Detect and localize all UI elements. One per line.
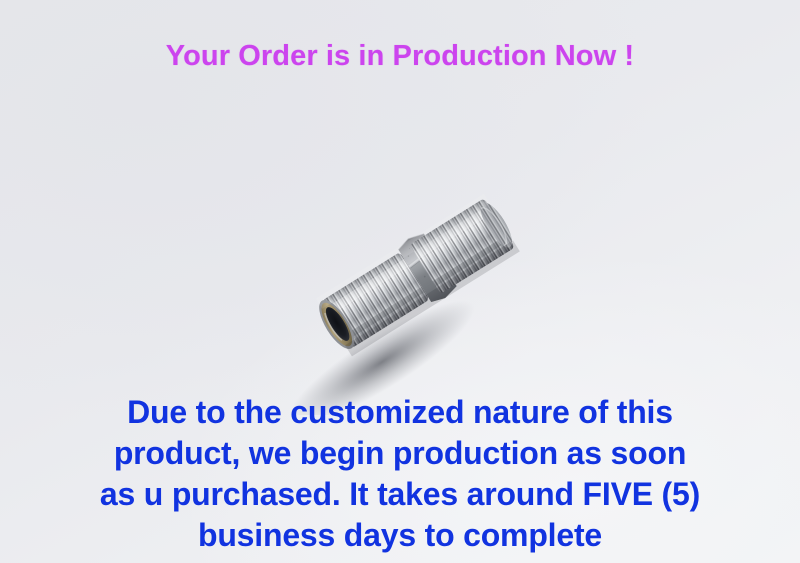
notice-line-1: Due to the customized nature of this xyxy=(0,392,800,433)
notice-line-4: business days to complete xyxy=(0,515,800,556)
product-photo xyxy=(232,150,592,415)
page-title: Your Order is in Production Now ! xyxy=(0,40,800,73)
notice-line-2: product, we begin production as soon xyxy=(0,433,800,474)
promo-image: Your Order is in Production Now ! xyxy=(0,0,800,563)
notice-line-3: as u purchased. It takes around FIVE (5) xyxy=(0,474,800,515)
pipe-nipple-illustration xyxy=(232,150,592,415)
production-notice: Due to the customized nature of this pro… xyxy=(0,392,800,556)
